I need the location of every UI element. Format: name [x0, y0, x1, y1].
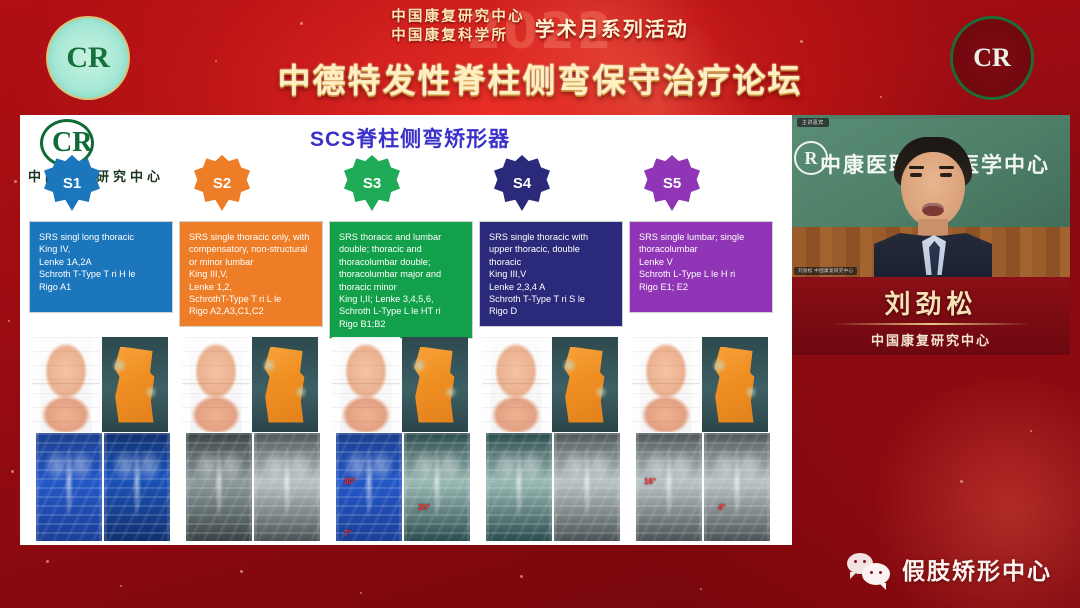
wechat-account-name: 假肢矫形中心 — [902, 552, 1052, 586]
xray-render — [104, 433, 170, 541]
torso-render — [632, 337, 700, 432]
spine-xray-photo — [486, 433, 552, 541]
cobb-angle-label: 30° — [344, 477, 356, 486]
particle — [46, 560, 49, 563]
spine-xray-photo — [36, 433, 102, 541]
wechat-bubble-front — [862, 563, 890, 585]
gear-label: S5 — [663, 175, 681, 192]
torso-scan-photo — [32, 337, 100, 432]
torso-scan-photo — [182, 337, 250, 432]
series-label: 学术月系列活动 — [535, 13, 689, 42]
video-top-badge: 主讲嘉宾 — [797, 118, 829, 127]
classification-box-s4: SRS single thoracic withupper thoracic, … — [480, 222, 622, 326]
gear-badge-s4[interactable]: S4 — [494, 155, 550, 211]
xray-render — [486, 433, 552, 541]
spine-xray-photo: 16° — [636, 433, 702, 541]
gear-label: S2 — [213, 175, 231, 192]
spine-xray-photo — [254, 433, 320, 541]
brace-render — [402, 337, 468, 432]
particle — [700, 588, 702, 590]
torso-scan-photo — [482, 337, 550, 432]
video-bottom-badge: 刘劲松 中国康复研究中心 — [794, 267, 857, 275]
brace-fitting-photo — [702, 337, 768, 432]
brace-fitting-photo — [102, 337, 168, 432]
speaker-brow-right — [939, 166, 954, 169]
torso-render — [332, 337, 400, 432]
xray-render — [636, 433, 702, 541]
speaker-mouth — [922, 203, 944, 216]
spine-xray-photo: 20° — [404, 433, 470, 541]
torso-render — [32, 337, 100, 432]
gear-label: S1 — [63, 175, 81, 192]
spine-xray-photo — [186, 433, 252, 541]
speaker-brow-left — [909, 166, 924, 169]
xray-render — [186, 433, 252, 541]
brace-fitting-photo — [552, 337, 618, 432]
particle — [240, 570, 243, 573]
header-banner: CR CR 2022 中国康复研究中心 中国康复科学所 学术月系列活动 中德特发… — [0, 0, 1080, 112]
brace-render — [102, 337, 168, 432]
gear-label: S3 — [363, 175, 381, 192]
particle — [360, 592, 362, 594]
torso-scan-photo — [632, 337, 700, 432]
gear-badge-s5[interactable]: S5 — [644, 155, 700, 211]
wechat-icon — [847, 553, 891, 585]
main-title: 中德特发性脊柱侧弯保守治疗论坛 — [0, 54, 1080, 102]
xray-render — [404, 433, 470, 541]
brace-render — [702, 337, 768, 432]
brace-fitting-photo — [252, 337, 318, 432]
gear-label: S4 — [513, 175, 531, 192]
webinar-screen: CR CR 2022 中国康复研究中心 中国康复科学所 学术月系列活动 中德特发… — [0, 0, 1080, 608]
speaker-name: 刘劲松 — [792, 284, 1070, 321]
particle — [14, 180, 17, 183]
xray-render — [36, 433, 102, 541]
brace-render — [252, 337, 318, 432]
speaker-figure — [878, 137, 988, 277]
particle — [8, 320, 10, 322]
organizer-line-2: 中国康复科学所 — [391, 28, 508, 44]
classification-box-s5: SRS single lumbar; singlethoracolumbarLe… — [630, 222, 772, 312]
spine-xray-photo: 30°7° — [336, 433, 402, 541]
spine-xray-photo — [104, 433, 170, 541]
gear-badge-s3[interactable]: S3 — [344, 155, 400, 211]
classification-box-s3: SRS thoracic and lumbardouble; thoracic … — [330, 222, 472, 338]
cobb-angle-label: 4° — [718, 503, 726, 512]
xray-render — [554, 433, 620, 541]
speaker-video-panel[interactable]: R 中康医联远程医学中心 主讲嘉宾 刘劲松 中国康复研究中心 刘劲松 — [792, 115, 1070, 355]
brace-render — [552, 337, 618, 432]
classification-box-s1: SRS singl long thoracicKing IV,Lenke 1A,… — [30, 222, 172, 312]
particle — [960, 480, 963, 483]
cobb-angle-label: 16° — [644, 477, 656, 486]
speaker-eye-left — [910, 173, 922, 177]
torso-render — [482, 337, 550, 432]
torso-render — [182, 337, 250, 432]
xray-render — [704, 433, 770, 541]
speaker-organization: 中国康复研究中心 — [792, 330, 1070, 349]
torso-scan-photo — [332, 337, 400, 432]
presentation-slide[interactable]: CR 中国康复研究中心 SCS脊柱侧弯矫形器 S1 S2 S3 S4 S5 SR… — [20, 115, 792, 545]
cobb-angle-label: 20° — [418, 503, 430, 512]
organizer-line-1: 中国康复研究中心 — [391, 9, 525, 25]
spine-xray-photo: 4° — [704, 433, 770, 541]
particle — [1030, 430, 1032, 432]
particle — [11, 470, 14, 473]
xray-render — [254, 433, 320, 541]
particle — [520, 575, 523, 578]
slide-logo-monogram: CR — [52, 127, 92, 159]
slide-title: SCS脊柱侧弯矫形器 — [310, 123, 510, 153]
organizer-line: 中国康复研究中心 中国康复科学所 学术月系列活动 — [0, 8, 1080, 46]
particle — [120, 585, 122, 587]
xray-render — [336, 433, 402, 541]
caption-divider — [831, 323, 1031, 325]
organizer-names: 中国康复研究中心 中国康复科学所 — [391, 8, 525, 46]
video-frame[interactable]: R 中康医联远程医学中心 主讲嘉宾 刘劲松 中国康复研究中心 — [792, 115, 1070, 277]
spine-xray-photo — [554, 433, 620, 541]
speaker-caption: 刘劲松 中国康复研究中心 — [792, 277, 1070, 355]
classification-box-s2: SRS single thoracic only, withcompensato… — [180, 222, 322, 326]
speaker-eye-right — [940, 173, 952, 177]
brace-fitting-photo — [402, 337, 468, 432]
cobb-angle-label: 7° — [344, 529, 352, 538]
wechat-badge: 假肢矫形中心 — [847, 552, 1052, 586]
